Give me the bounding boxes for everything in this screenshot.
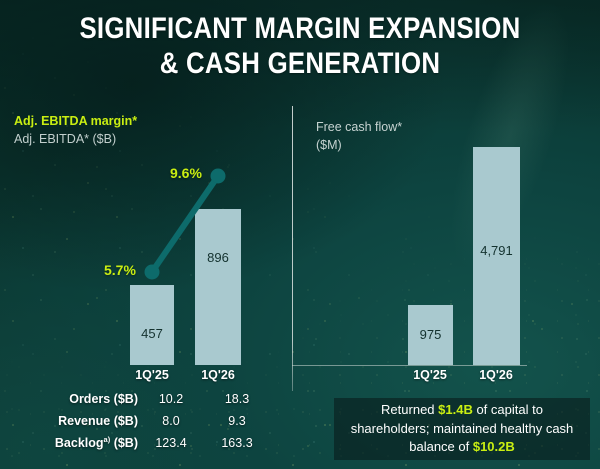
capital-return-callout: Returned $1.4B of capital to shareholder… <box>334 398 590 460</box>
bar-value-fcf-1q25: 975 <box>408 327 453 342</box>
right-chart-legend: Free cash flow* ($M) <box>316 118 402 154</box>
metrics-value-orders-1q25: 10.2 <box>138 392 204 406</box>
axis-label-right-1q25: 1Q'25 <box>404 368 456 382</box>
axis-label-left-1q26: 1Q'26 <box>192 368 244 382</box>
legend-label-fcf-line2: ($M) <box>316 136 402 154</box>
metrics-value-backlog-1q26: 163.3 <box>204 436 270 450</box>
panel-divider <box>292 106 293 391</box>
callout-highlight-capital-returned: $1.4B <box>438 402 473 417</box>
page-title: SIGNIFICANT MARGIN EXPANSION & CASH GENE… <box>42 12 558 82</box>
legend-label-ebitda: Adj. EBITDA* ($B) <box>14 131 137 149</box>
bar-ebitda-1q26 <box>195 209 241 365</box>
right-chart-axis-line <box>292 365 527 366</box>
bar-value-fcf-1q26: 4,791 <box>473 243 520 258</box>
metrics-table: Orders ($B) 10.2 18.3 Revenue ($B) 8.0 9… <box>4 388 272 454</box>
callout-highlight-cash-balance: $10.2B <box>473 439 515 454</box>
bar-value-ebitda-1q25: 457 <box>130 326 174 341</box>
margin-value-1q25: 5.7% <box>104 262 136 278</box>
axis-label-right-1q26: 1Q'26 <box>470 368 522 382</box>
page-title-line1: SIGNIFICANT MARGIN EXPANSION <box>79 12 520 45</box>
metrics-label-revenue: Revenue ($B) <box>4 414 138 428</box>
table-row: Revenue ($B) 8.0 9.3 <box>4 410 272 432</box>
legend-label-fcf-line1: Free cash flow* <box>316 118 402 136</box>
metrics-label-backlog-text: Backlog <box>55 436 104 450</box>
metrics-label-backlog: Backloga) ($B) <box>4 436 138 450</box>
legend-label-ebitda-margin: Adj. EBITDA margin* <box>14 113 137 131</box>
metrics-value-backlog-1q25: 123.4 <box>138 436 204 450</box>
left-chart-legend: Adj. EBITDA margin* Adj. EBITDA* ($B) <box>14 113 137 149</box>
bar-value-ebitda-1q26: 896 <box>195 250 241 265</box>
axis-label-left-1q25: 1Q'25 <box>126 368 178 382</box>
callout-part1: Returned <box>381 402 438 417</box>
metrics-value-revenue-1q25: 8.0 <box>138 414 204 428</box>
table-row: Orders ($B) 10.2 18.3 <box>4 388 272 410</box>
callout-text: Returned $1.4B of capital to shareholder… <box>342 401 582 456</box>
table-row: Backloga) ($B) 123.4 163.3 <box>4 432 272 454</box>
slide-root: SIGNIFICANT MARGIN EXPANSION & CASH GENE… <box>0 0 600 469</box>
metrics-label-orders: Orders ($B) <box>4 392 138 406</box>
metrics-value-revenue-1q26: 9.3 <box>204 414 270 428</box>
metrics-value-orders-1q26: 18.3 <box>204 392 270 406</box>
metrics-label-backlog-unit: ($B) <box>110 436 138 450</box>
margin-value-1q26: 9.6% <box>170 165 202 181</box>
bar-ebitda-1q25 <box>130 285 174 365</box>
page-title-line2: & CASH GENERATION <box>42 47 558 82</box>
